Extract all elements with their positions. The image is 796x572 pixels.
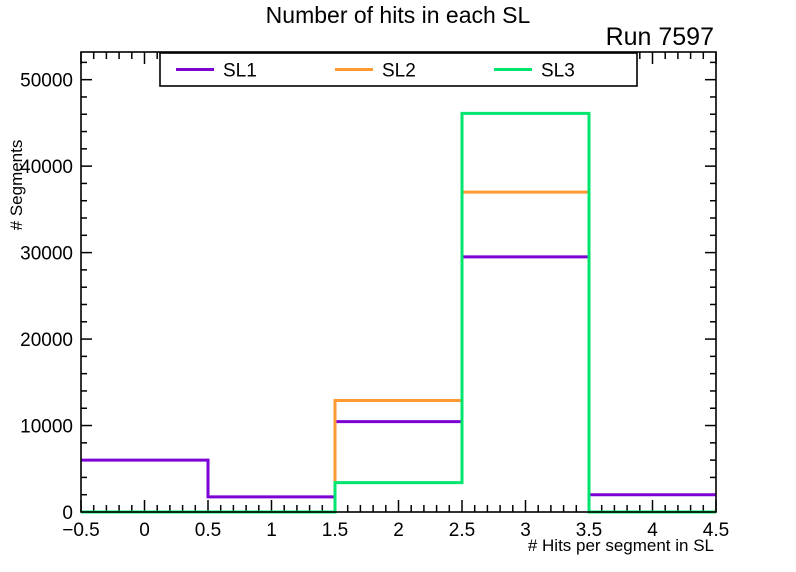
x-axis-title: # Hits per segment in SL xyxy=(528,536,714,555)
legend-label-sl3: SL3 xyxy=(541,61,575,82)
series-sl3 xyxy=(81,113,716,512)
y-tick-label: 40000 xyxy=(20,157,73,178)
x-axis-ticks: −0.500.511.522.533.544.5 xyxy=(62,52,729,541)
y-tick-label: 10000 xyxy=(20,417,73,438)
series-group xyxy=(81,113,716,512)
chart-canvas: Number of hits in each SL Run 7597 # Seg… xyxy=(0,0,796,572)
legend-label-sl2: SL2 xyxy=(382,61,416,82)
chart-legend[interactable]: SL1SL2SL3 xyxy=(160,53,637,86)
x-tick-label: 3.5 xyxy=(576,520,602,541)
x-tick-label: 2.5 xyxy=(449,520,475,541)
x-tick-label: 4.5 xyxy=(703,520,729,541)
y-axis-title: # Segments xyxy=(7,140,26,231)
y-tick-label: 30000 xyxy=(20,244,73,265)
x-tick-label: 1 xyxy=(266,520,277,541)
run-annotation: Run 7597 xyxy=(606,23,714,51)
plot-frame xyxy=(81,52,716,512)
y-axis-ticks: 01000020000300004000050000 xyxy=(20,62,716,524)
x-tick-label: 0 xyxy=(139,520,150,541)
legend-label-sl1: SL1 xyxy=(223,61,257,82)
x-tick-label: 3 xyxy=(520,520,531,541)
x-tick-label: 4 xyxy=(647,520,658,541)
chart-title: Number of hits in each SL xyxy=(266,2,531,28)
x-tick-label: −0.5 xyxy=(62,520,100,541)
x-tick-label: 1.5 xyxy=(322,520,348,541)
y-tick-label: 50000 xyxy=(20,71,73,92)
x-tick-label: 0.5 xyxy=(195,520,221,541)
series-sl1 xyxy=(81,257,716,497)
series-sl2 xyxy=(81,192,716,512)
y-tick-label: 20000 xyxy=(20,330,73,351)
histogram-plot: Number of hits in each SL Run 7597 # Seg… xyxy=(0,0,796,572)
x-tick-label: 2 xyxy=(393,520,404,541)
